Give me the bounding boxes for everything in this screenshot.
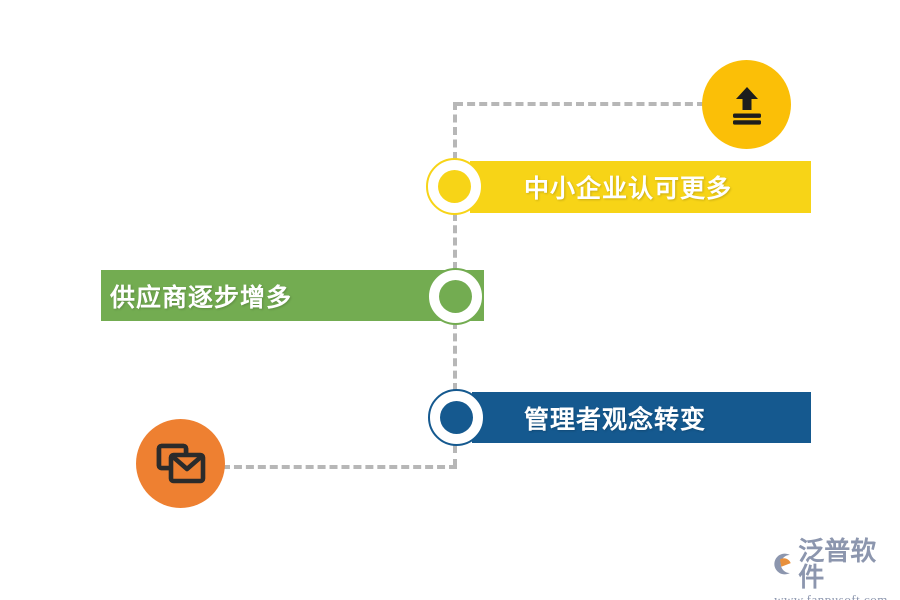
fanpu-logo-mark-icon <box>770 550 795 578</box>
connector-bottom-vertical <box>453 445 457 467</box>
connector-bottom-horizontal <box>222 465 457 469</box>
watermark-brand-row: 泛普软件 <box>770 538 892 590</box>
ring-core-yellow <box>438 170 471 203</box>
connector-top-horizontal <box>455 102 705 106</box>
watermark-url-text: www.fanpusoft.com <box>774 592 888 600</box>
upload-icon <box>724 82 770 128</box>
infographic-canvas: 中小企业认可更多 供应商逐步增多 管理者观念转变 <box>0 0 900 600</box>
item-bar-sme-recognition[interactable]: 中小企业认可更多 <box>470 161 811 213</box>
watermark-logo: 泛普软件 www.fanpusoft.com <box>770 538 892 600</box>
item-marker-manager-mindset <box>428 389 485 446</box>
item-bar-manager-mindset[interactable]: 管理者观念转变 <box>472 392 811 443</box>
item-marker-supplier-growth <box>427 268 484 325</box>
watermark-brand-text: 泛普软件 <box>798 538 892 590</box>
connector-spine-lower <box>453 321 457 391</box>
mail-icon-disc[interactable] <box>136 419 225 508</box>
connector-top-vertical <box>453 102 457 160</box>
ring-core-green <box>439 280 472 313</box>
ring-core-blue <box>440 401 473 434</box>
item-marker-sme-recognition <box>426 158 483 215</box>
item-label-supplier-growth: 供应商逐步增多 <box>110 278 292 314</box>
upload-icon-disc[interactable] <box>702 60 791 149</box>
item-label-sme-recognition: 中小企业认可更多 <box>524 169 732 205</box>
item-label-manager-mindset: 管理者观念转变 <box>524 400 706 436</box>
mail-stack-icon <box>156 442 206 486</box>
connector-spine-upper <box>453 213 457 270</box>
